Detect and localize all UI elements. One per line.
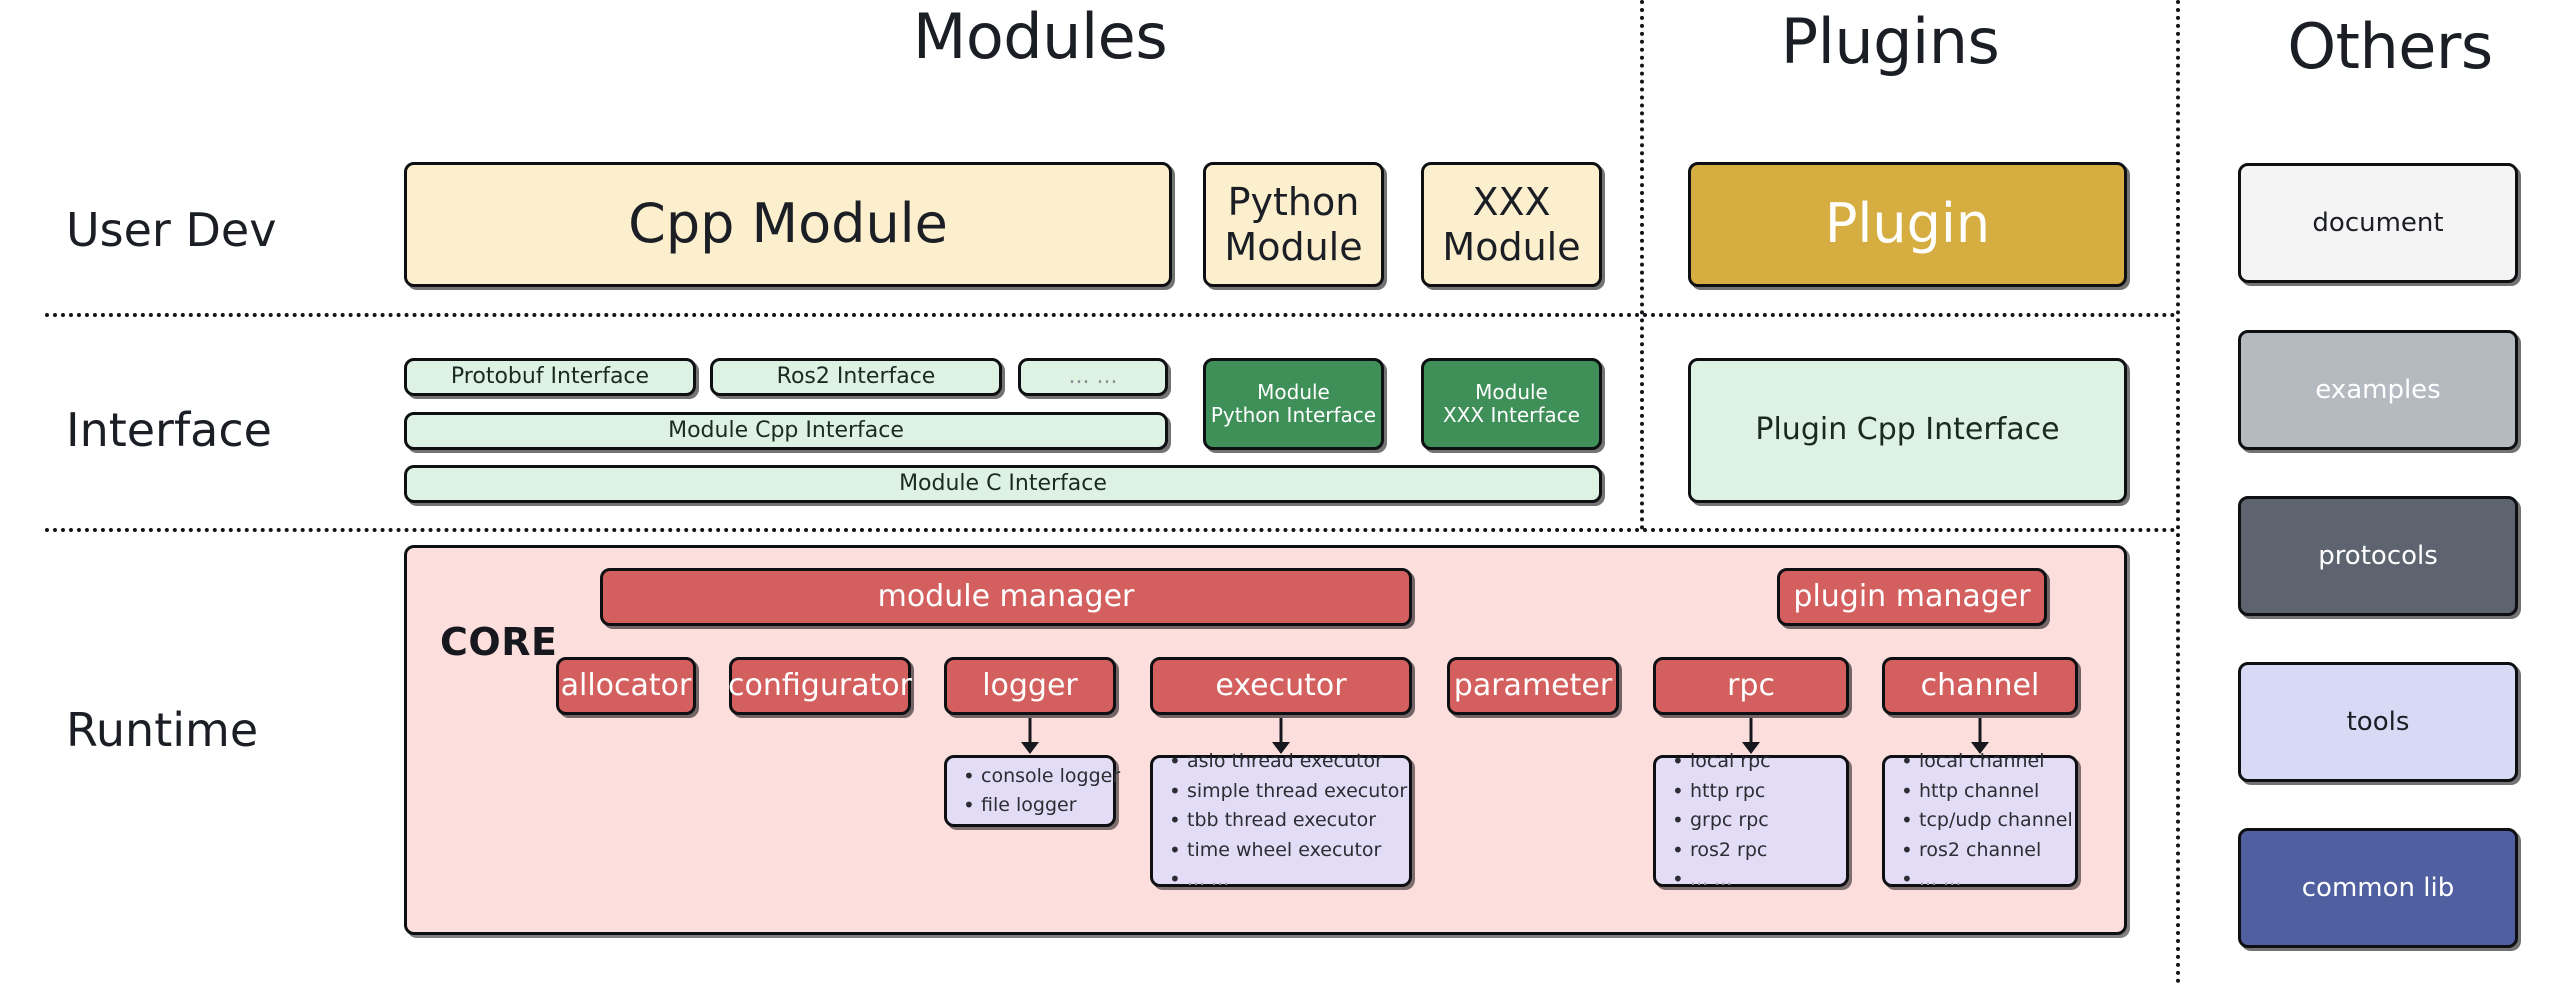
list-item: ... ...: [1165, 865, 1399, 894]
python-module-label-line2: Module: [1224, 225, 1362, 269]
list-item: time wheel executor: [1165, 836, 1399, 865]
configurator-box[interactable]: configurator: [729, 657, 911, 715]
others-item-tools[interactable]: tools: [2238, 662, 2518, 782]
row-label-runtime: Runtime: [66, 703, 258, 757]
others-item-document[interactable]: document: [2238, 163, 2518, 283]
list-item: http rpc: [1668, 777, 1836, 806]
rpc-detail-list: local rpc http rpc grpc rpc ros2 rpc ...…: [1653, 755, 1849, 887]
list-item: http channel: [1897, 777, 2065, 806]
module-python-interface-box[interactable]: Module Python Interface: [1203, 358, 1384, 450]
list-item: console logger: [959, 762, 1103, 791]
plugin-box[interactable]: Plugin: [1688, 162, 2127, 287]
plugin-manager-box[interactable]: plugin manager: [1777, 568, 2047, 626]
channel-box[interactable]: channel: [1882, 657, 2078, 715]
divider-interface-runtime: [45, 528, 2177, 532]
column-title-plugins: Plugins: [1680, 5, 2100, 78]
python-module-label-line1: Python: [1228, 180, 1360, 224]
logger-box[interactable]: logger: [944, 657, 1116, 715]
divider-userdev-interface: [45, 313, 2177, 317]
list-item: local channel: [1897, 747, 2065, 776]
list-item: file logger: [959, 791, 1103, 820]
core-label: CORE: [440, 620, 557, 664]
others-item-common-lib[interactable]: common lib: [2238, 828, 2518, 948]
logger-detail-items: console logger file logger: [959, 762, 1103, 821]
ros2-interface-box[interactable]: Ros2 Interface: [710, 358, 1002, 396]
plugin-cpp-interface-box[interactable]: Plugin Cpp Interface: [1688, 358, 2127, 503]
module-xxx-interface-line2: XXX Interface: [1443, 404, 1580, 427]
executor-detail-items: asio thread executor simple thread execu…: [1165, 747, 1399, 894]
channel-detail-items: local channel http channel tcp/udp chann…: [1897, 747, 2065, 894]
list-item: ros2 channel: [1897, 836, 2065, 865]
rpc-detail-items: local rpc http rpc grpc rpc ros2 rpc ...…: [1668, 747, 1836, 894]
allocator-box[interactable]: allocator: [556, 657, 696, 715]
module-python-interface-line2: Python Interface: [1211, 404, 1376, 427]
architecture-diagram: Modules Plugins Others User Dev Interfac…: [0, 0, 2560, 984]
executor-box[interactable]: executor: [1150, 657, 1412, 715]
module-xxx-interface-line1: Module: [1475, 381, 1548, 404]
others-item-examples[interactable]: examples: [2238, 330, 2518, 450]
module-xxx-interface-box[interactable]: Module XXX Interface: [1421, 358, 1602, 450]
column-title-others: Others: [2210, 10, 2560, 83]
row-label-interface: Interface: [66, 403, 272, 457]
module-cpp-interface-box[interactable]: Module Cpp Interface: [404, 412, 1168, 450]
module-c-interface-box[interactable]: Module C Interface: [404, 465, 1602, 503]
xxx-module-label-line1: XXX: [1472, 180, 1550, 224]
list-item: grpc rpc: [1668, 806, 1836, 835]
others-item-protocols[interactable]: protocols: [2238, 496, 2518, 616]
list-item: asio thread executor: [1165, 747, 1399, 776]
python-module-box[interactable]: Python Module: [1203, 162, 1384, 287]
module-python-interface-line1: Module: [1257, 381, 1330, 404]
xxx-module-box[interactable]: XXX Module: [1421, 162, 1602, 287]
list-item: ... ...: [1668, 865, 1836, 894]
other-interface-box[interactable]: ... ...: [1018, 358, 1168, 396]
row-label-user-dev: User Dev: [66, 203, 276, 257]
divider-modules-plugins: [1640, 0, 1644, 530]
logger-detail-list: console logger file logger: [944, 755, 1116, 827]
list-item: tcp/udp channel: [1897, 806, 2065, 835]
executor-detail-list: asio thread executor simple thread execu…: [1150, 755, 1412, 887]
protobuf-interface-box[interactable]: Protobuf Interface: [404, 358, 696, 396]
list-item: tbb thread executor: [1165, 806, 1399, 835]
rpc-box[interactable]: rpc: [1653, 657, 1849, 715]
list-item: ros2 rpc: [1668, 836, 1836, 865]
list-item: local rpc: [1668, 747, 1836, 776]
list-item: simple thread executor: [1165, 777, 1399, 806]
cpp-module-box[interactable]: Cpp Module: [404, 162, 1172, 287]
parameter-box[interactable]: parameter: [1447, 657, 1619, 715]
divider-plugins-others: [2176, 0, 2180, 984]
channel-detail-list: local channel http channel tcp/udp chann…: [1882, 755, 2078, 887]
xxx-module-label-line2: Module: [1442, 225, 1580, 269]
list-item: ... ...: [1897, 865, 2065, 894]
column-title-modules: Modules: [760, 0, 1320, 73]
module-manager-box[interactable]: module manager: [600, 568, 1412, 626]
